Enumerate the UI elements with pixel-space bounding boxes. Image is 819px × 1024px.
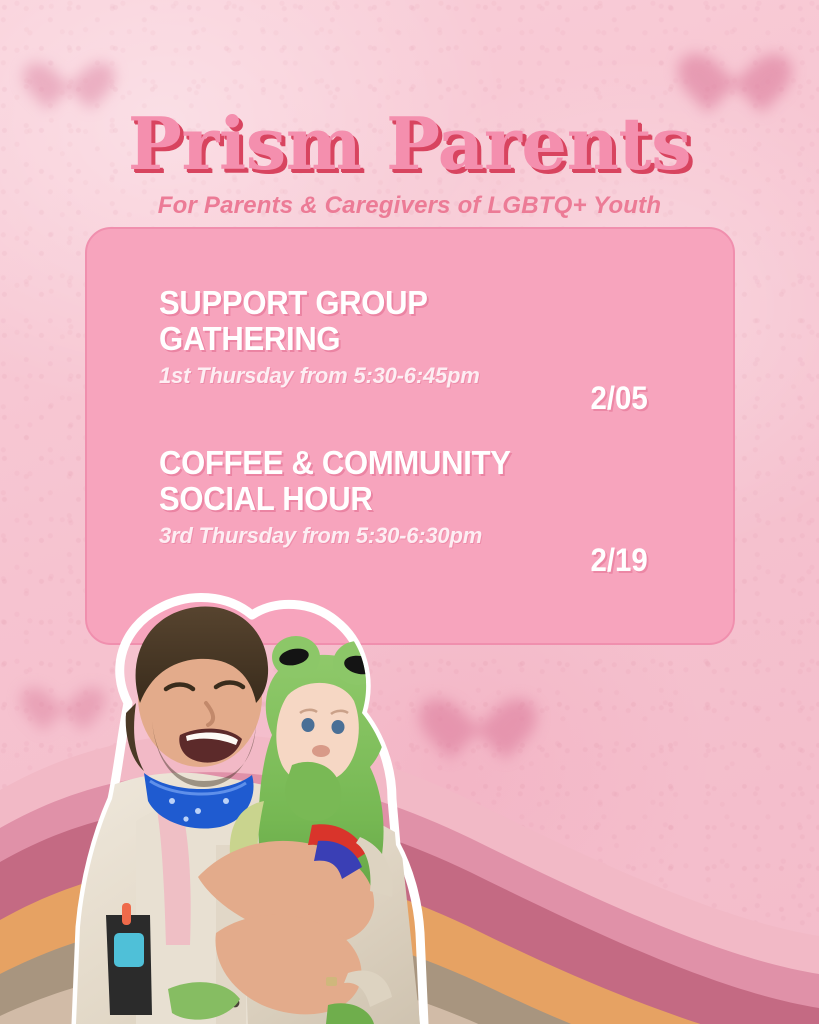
heart-top-left-icon — [38, 42, 100, 98]
event-item: SUPPORT GROUP GATHERING 1st Thursday fro… — [159, 285, 703, 389]
poster-canvas: Prism Parents For Parents & Caregivers o… — [0, 0, 819, 1024]
event-item: COFFEE & COMMUNITY SOCIAL HOUR 3rd Thurs… — [159, 445, 703, 549]
page-title: Prism Parents — [0, 108, 819, 180]
events-card: SUPPORT GROUP GATHERING 1st Thursday fro… — [85, 227, 735, 645]
event-title-line2: SOCIAL HOUR — [159, 481, 670, 517]
event-date-badge: 2/19 — [590, 542, 647, 579]
page-subtitle: For Parents & Caregivers of LGBTQ+ Youth — [0, 192, 819, 220]
photo-cutout-parent-and-child — [40, 585, 460, 1024]
event-title-line1: SUPPORT GROUP — [159, 285, 670, 321]
event-title-line1: COFFEE & COMMUNITY — [159, 445, 670, 481]
event-title-line2: GATHERING — [159, 321, 670, 357]
heart-top-right-icon — [696, 28, 774, 98]
event-date-badge: 2/05 — [590, 380, 647, 417]
